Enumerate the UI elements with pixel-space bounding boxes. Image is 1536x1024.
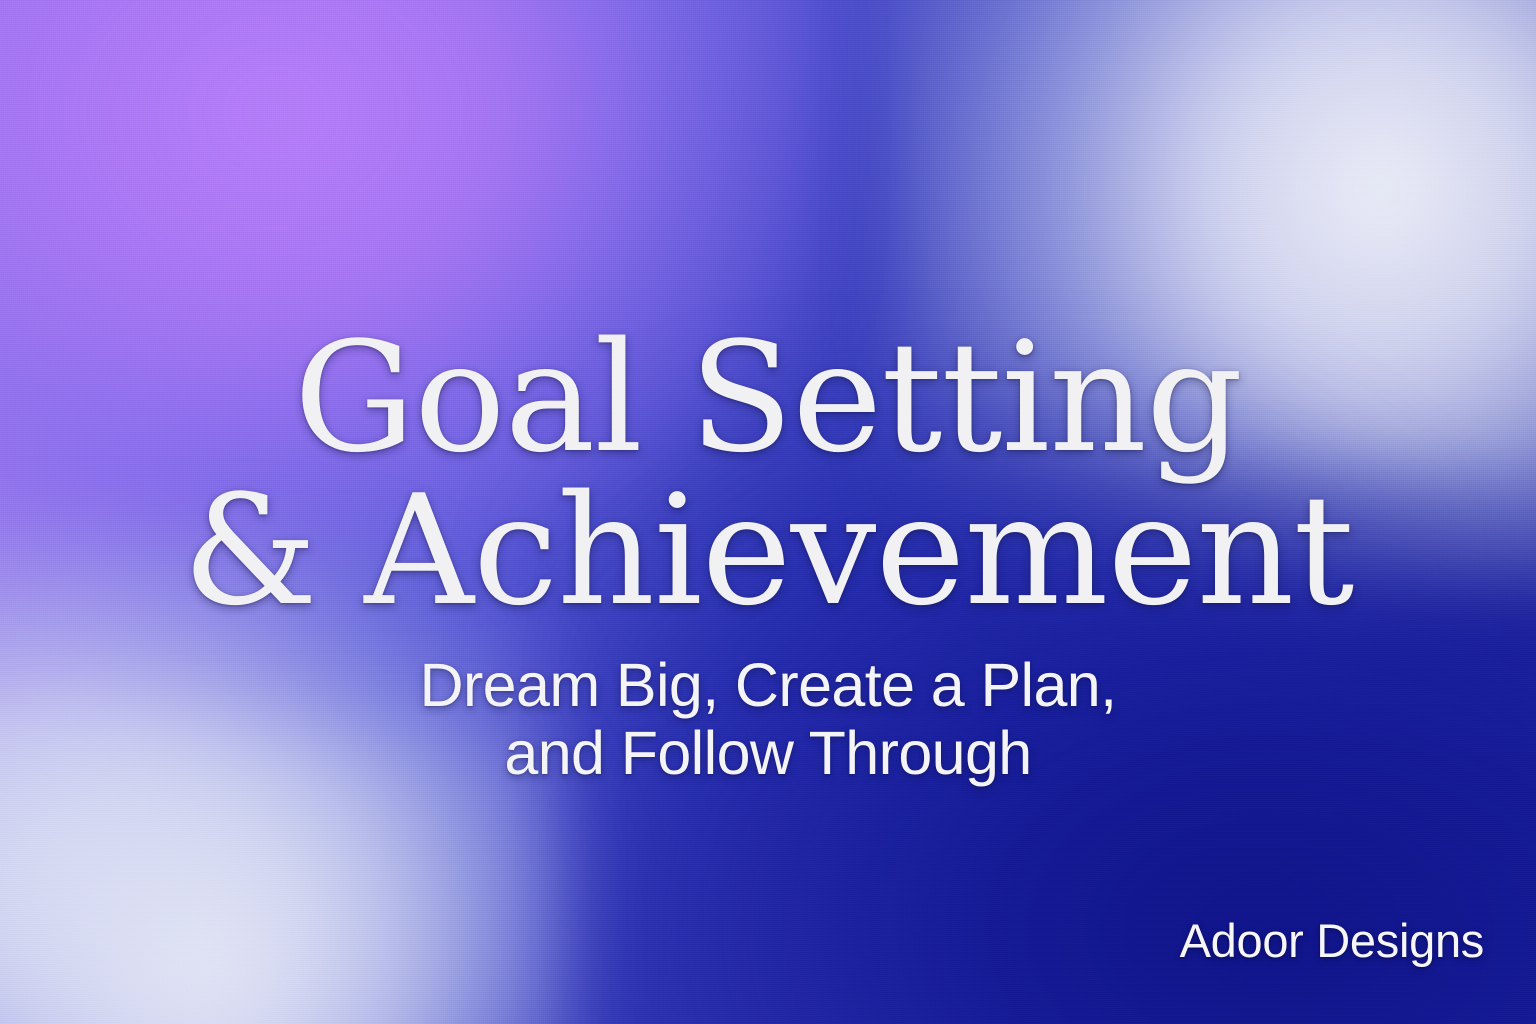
headline: Goal Setting & Achievement <box>0 324 1536 625</box>
subtitle-line-2: and Follow Through <box>0 719 1536 787</box>
poster-content: Goal Setting & Achievement Dream Big, Cr… <box>0 0 1536 1024</box>
subtitle: Dream Big, Create a Plan, and Follow Thr… <box>0 651 1536 788</box>
subtitle-line-1: Dream Big, Create a Plan, <box>0 651 1536 719</box>
headline-line-1: Goal Setting <box>0 324 1536 471</box>
headline-line-2: & Achievement <box>0 477 1536 624</box>
credit-attribution: Adoor Designs <box>1180 913 1484 968</box>
poster-canvas: Goal Setting & Achievement Dream Big, Cr… <box>0 0 1536 1024</box>
